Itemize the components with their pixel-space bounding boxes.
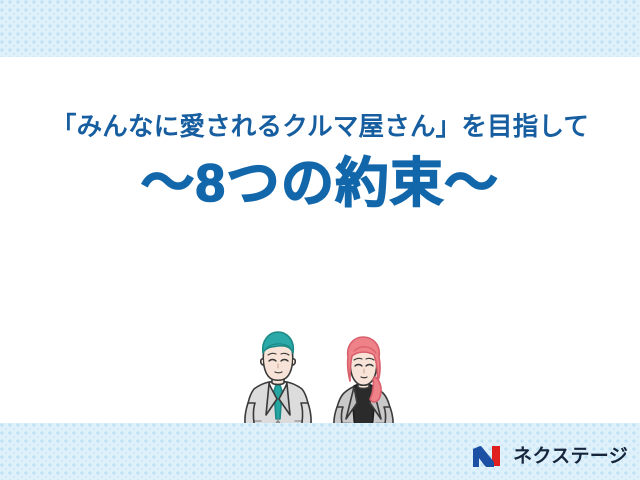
headline-block: 「みんなに愛されるクルマ屋さん」を目指して 〜8つの約束〜 [0, 113, 640, 211]
headline-subtitle: 「みんなに愛されるクルマ屋さん」を目指して [0, 113, 640, 142]
headline-title: 〜8つの約束〜 [0, 156, 640, 212]
brand-logo: ネクステージ [473, 441, 628, 471]
banner-root: 「みんなに愛されるクルマ屋さん」を目指して 〜8つの約束〜 [0, 0, 640, 480]
polka-dot-band-top [0, 0, 640, 57]
content-panel: 「みんなに愛されるクルマ屋さん」を目指して 〜8つの約束〜 [0, 57, 640, 423]
brand-wordmark: ネクステージ [513, 447, 628, 466]
nexstage-n-logo-icon [473, 444, 507, 468]
